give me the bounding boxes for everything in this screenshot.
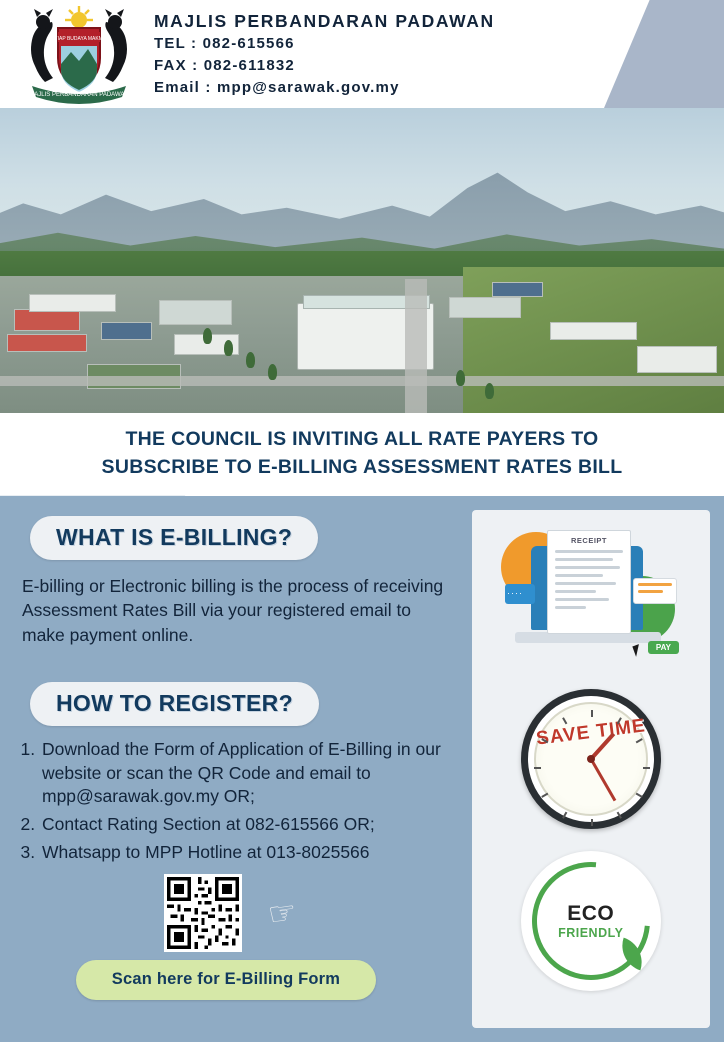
- list-item: Whatsapp to MPP Hotline at 013-8025566: [40, 841, 460, 865]
- list-item: Download the Form of Application of E-Bi…: [40, 738, 460, 809]
- page-header: SETIAP BUDAYA MAKMUR MAJLIS PERBANDARAN …: [0, 0, 724, 108]
- what-is-ebilling-heading: WHAT IS E-BILLING?: [30, 516, 318, 560]
- council-name: MAJLIS PERBANDARAN PADAWAN: [154, 10, 495, 34]
- invitation-banner: THE COUNCIL IS INVITING ALL RATE PAYERS …: [0, 413, 724, 496]
- save-time-clock-illustration: SAVE TIME: [516, 684, 666, 834]
- clock-face: SAVE TIME: [534, 702, 648, 816]
- photo-building: [449, 297, 521, 318]
- photo-building: [14, 309, 79, 330]
- council-fax: FAX : 082-611832: [154, 55, 495, 77]
- registration-steps-list: Download the Form of Application of E-Bi…: [40, 738, 460, 864]
- how-to-register-heading-text: HOW TO REGISTER?: [56, 690, 293, 716]
- photo-road: [0, 376, 724, 385]
- qr-row: ☞: [164, 874, 460, 952]
- photo-tree: [268, 364, 277, 380]
- pointing-hand-icon: ☞: [265, 892, 299, 934]
- qr-code[interactable]: [164, 874, 242, 952]
- clock-icon: SAVE TIME: [521, 689, 661, 829]
- photo-tree: [246, 352, 255, 368]
- what-is-ebilling-body: E-billing or Electronic billing is the p…: [14, 564, 460, 649]
- photo-tree: [224, 340, 233, 356]
- council-crest-logo: SETIAP BUDAYA MAKMUR MAJLIS PERBANDARAN …: [18, 4, 140, 104]
- photo-building: [101, 322, 152, 340]
- eco-label-line2: FRIENDLY: [558, 926, 623, 940]
- council-email: Email : mpp@sarawak.gov.my: [154, 77, 495, 99]
- svg-text:MAJLIS PERBANDARAN PADAWAN: MAJLIS PERBANDARAN PADAWAN: [29, 92, 128, 98]
- photo-tree: [456, 370, 465, 386]
- photo-building: [637, 346, 717, 373]
- card-dots: ····: [507, 588, 523, 598]
- cursor-icon: [632, 644, 642, 657]
- pay-button-graphic: PAY: [648, 641, 679, 654]
- ebilling-illustration: RECEIPT ···· PAY: [501, 522, 681, 672]
- receipt-label: RECEIPT: [555, 536, 623, 545]
- eco-label-line1: ECO: [558, 902, 623, 926]
- scan-here-button[interactable]: Scan here for E-Billing Form: [76, 960, 376, 1000]
- receipt-document: RECEIPT: [547, 530, 631, 634]
- how-to-register-heading: HOW TO REGISTER?: [30, 682, 319, 726]
- credit-card-icon: [633, 578, 677, 604]
- council-tel: TEL : 082-615566: [154, 33, 495, 55]
- photo-tree: [485, 383, 494, 399]
- header-corner-decoration: [604, 0, 724, 108]
- aerial-town-photo: [0, 108, 724, 413]
- content-area: WHAT IS E-BILLING? E-billing or Electron…: [0, 496, 724, 1042]
- clock-minute-hand: [590, 758, 617, 801]
- banner-line-2: SUBSCRIBE TO E-BILLING ASSESSMENT RATES …: [10, 453, 714, 481]
- clock-center-pin: [587, 755, 595, 763]
- photo-road: [405, 279, 427, 413]
- photo-building: [492, 282, 543, 297]
- eco-friendly-badge: ECO FRIENDLY: [521, 851, 661, 991]
- photo-building: [29, 294, 116, 312]
- left-column: WHAT IS E-BILLING? E-billing or Electron…: [14, 510, 466, 1042]
- what-is-ebilling-heading-text: WHAT IS E-BILLING?: [56, 524, 292, 550]
- scan-here-button-label: Scan here for E-Billing Form: [112, 970, 340, 988]
- svg-text:SETIAP BUDAYA MAKMUR: SETIAP BUDAYA MAKMUR: [48, 36, 111, 42]
- list-item: Contact Rating Section at 082-615566 OR;: [40, 813, 460, 837]
- header-contact-block: MAJLIS PERBANDARAN PADAWAN TEL : 082-615…: [154, 10, 495, 99]
- photo-building: [7, 334, 87, 352]
- save-time-label: SAVE TIME: [535, 715, 647, 750]
- banner-line-1: THE COUNCIL IS INVITING ALL RATE PAYERS …: [10, 425, 714, 453]
- eco-ring-shape: ECO FRIENDLY: [508, 837, 674, 1003]
- eco-friendly-illustration: ECO FRIENDLY: [516, 846, 666, 996]
- illustration-panel: RECEIPT ···· PAY SAVE TIME: [472, 510, 710, 1028]
- photo-tree: [203, 328, 212, 344]
- photo-building: [550, 322, 637, 340]
- photo-building: [159, 300, 231, 324]
